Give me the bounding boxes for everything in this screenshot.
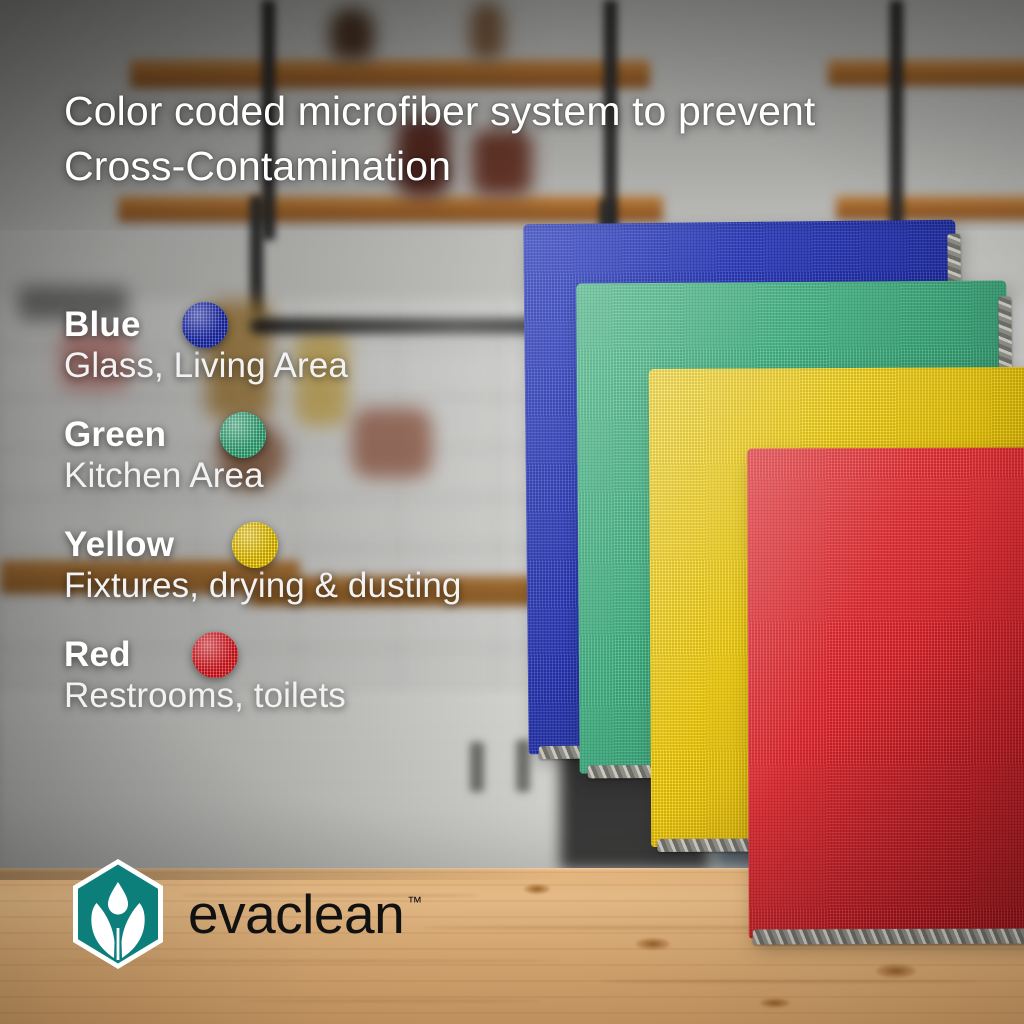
brand-logo: evaclean ™ [66,858,422,970]
color-name-blue: Blue [64,305,182,345]
color-description-red: Restrooms, toilets [64,676,624,716]
trademark-symbol: ™ [407,895,422,910]
color-name-green: Green [64,415,220,455]
brand-name: evaclean [188,887,404,942]
legend-item-header: Red [64,632,624,678]
poster-content: Color coded microfiber system to prevent… [0,0,1024,1024]
color-code-legend: Blue Glass, Living Area Green Kitche [64,302,624,742]
legend-item-header: Yellow [64,522,624,568]
headline: Color coded microfiber system to prevent… [64,84,974,194]
color-name-yellow: Yellow [64,525,232,565]
legend-item-header: Blue [64,302,624,348]
legend-item-green: Green Kitchen Area [64,412,624,496]
legend-item-red: Red Restrooms, toilets [64,632,624,716]
color-description-yellow: Fixtures, drying & dusting [64,566,624,606]
green-fiber-dot-icon [220,412,266,458]
yellow-fiber-dot-icon [232,522,278,568]
red-fiber-dot-icon [192,632,238,678]
color-name-red: Red [64,635,192,675]
brand-wordmark: evaclean ™ [188,887,422,942]
blue-fiber-dot-icon [182,302,228,348]
legend-item-header: Green [64,412,624,458]
color-description-blue: Glass, Living Area [64,346,624,386]
color-description-green: Kitchen Area [64,456,624,496]
marketing-poster: Color coded microfiber system to prevent… [0,0,1024,1024]
legend-item-blue: Blue Glass, Living Area [64,302,624,386]
evaclean-hexagon-leaf-droplet-icon [66,858,170,970]
legend-item-yellow: Yellow Fixtures, drying & dusting [64,522,624,606]
